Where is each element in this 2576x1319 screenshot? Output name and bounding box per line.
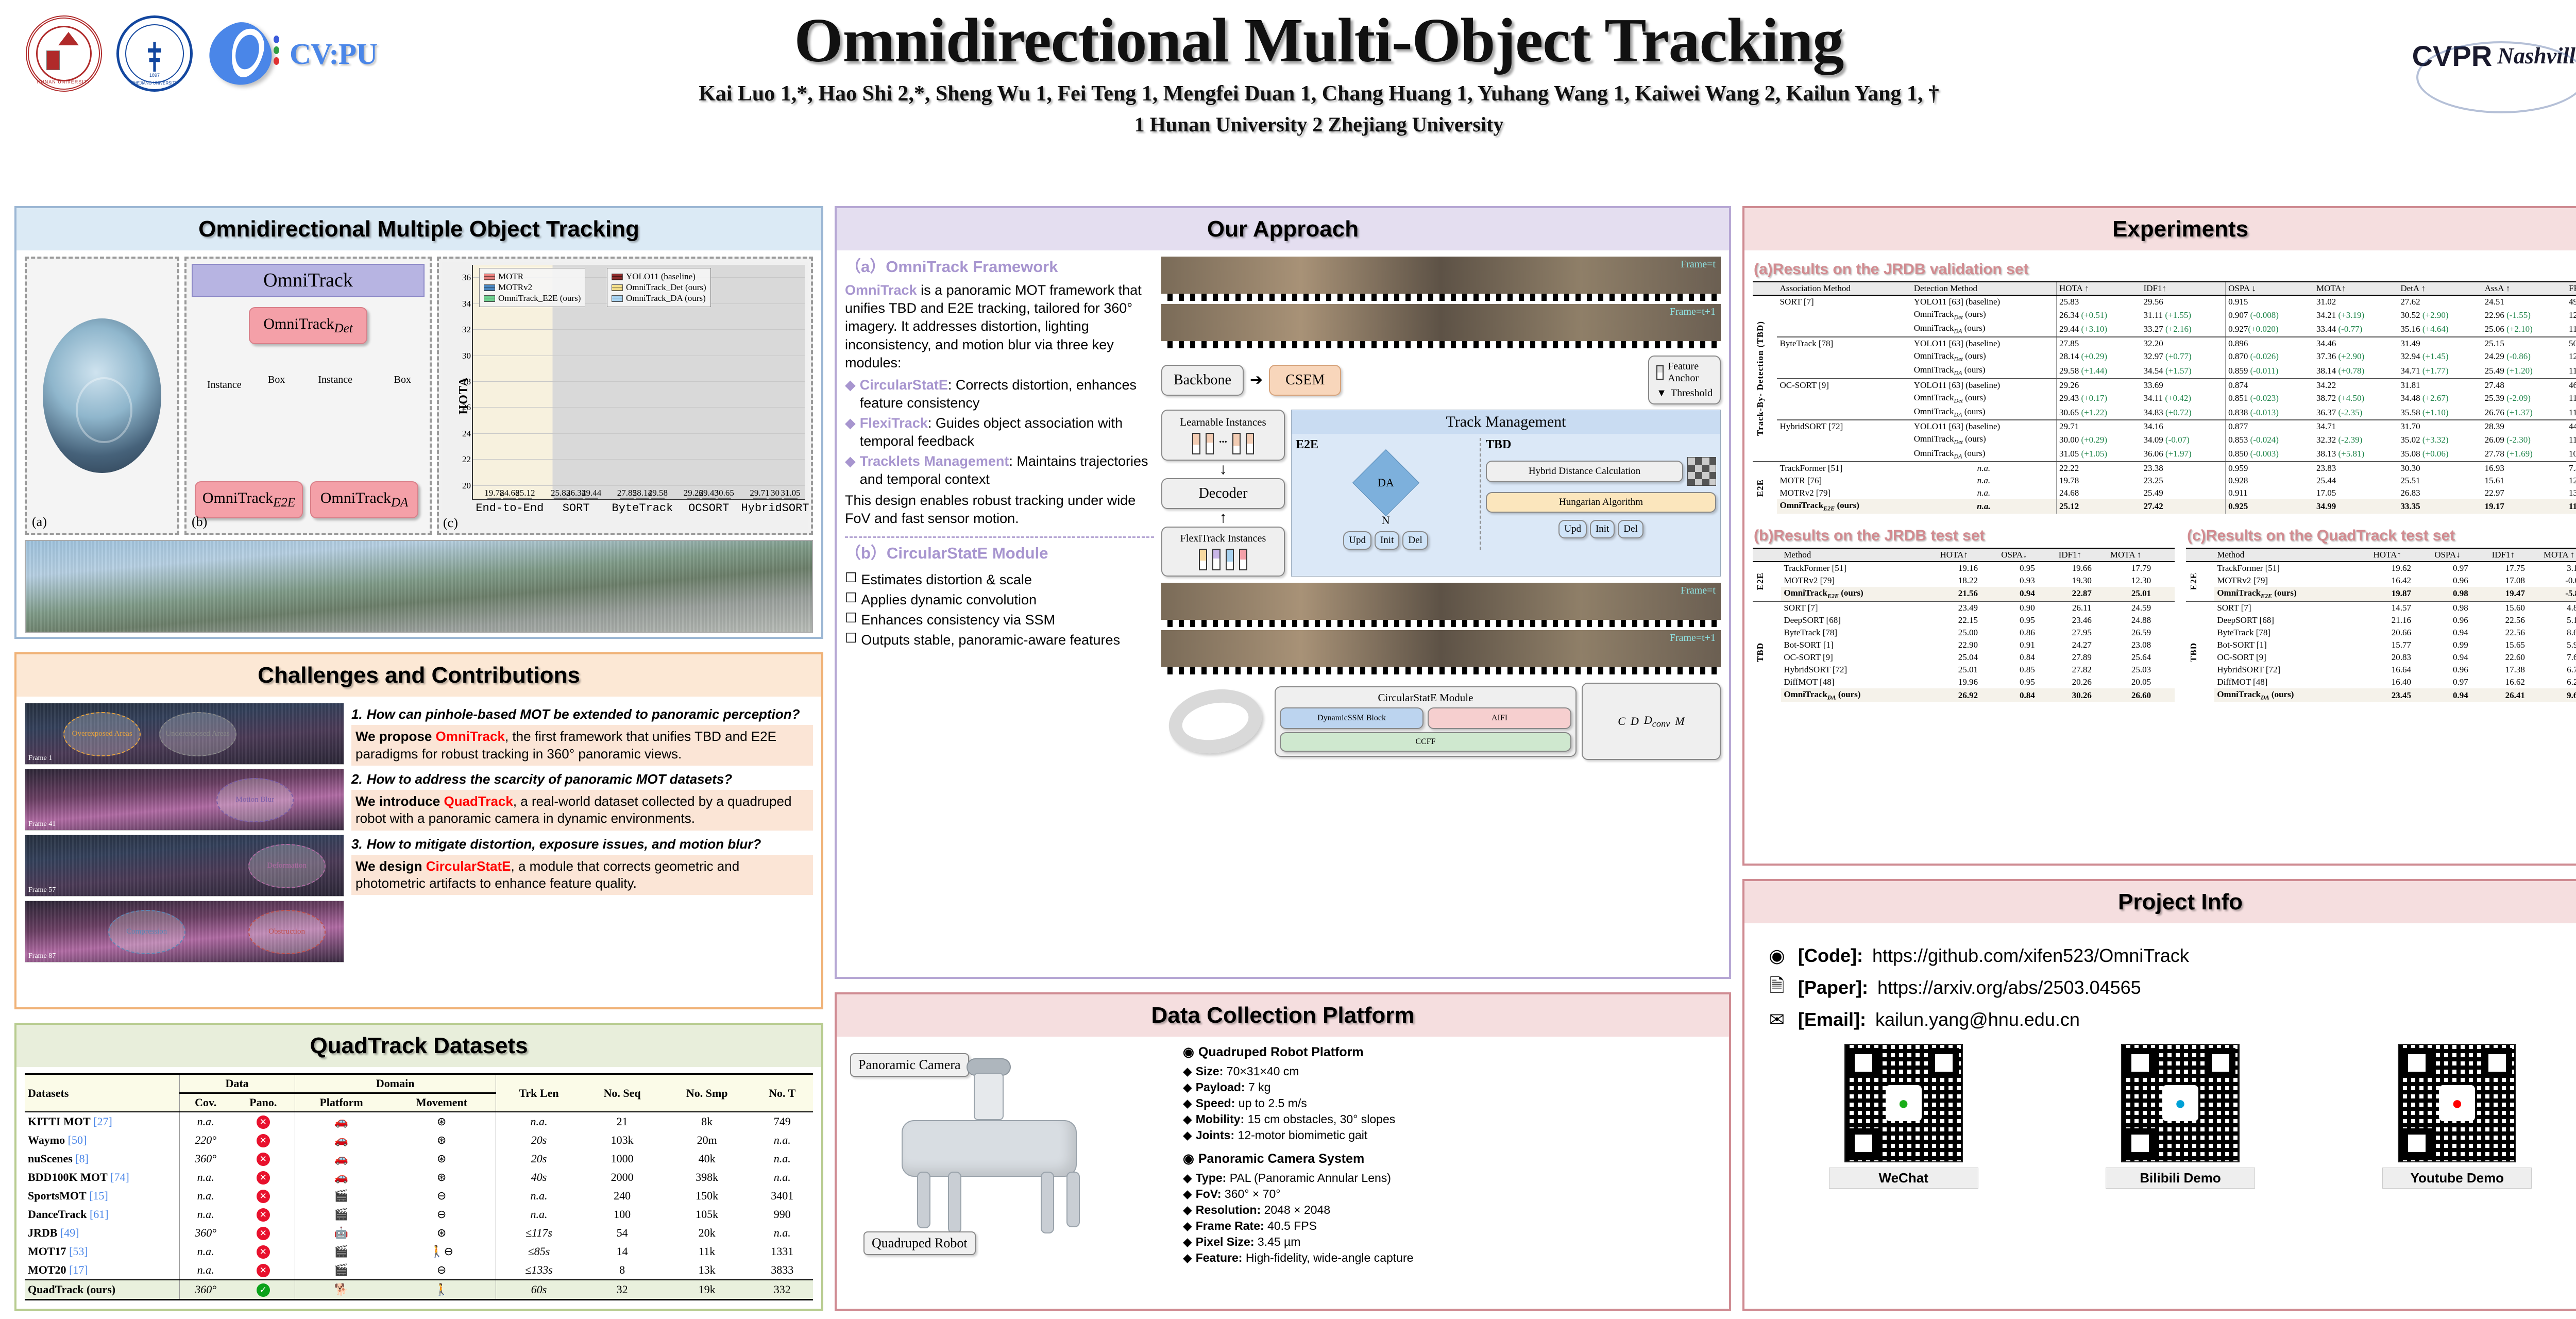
movement-icon: ⊛ <box>387 1224 496 1242</box>
x-axis-tick: OCSORT <box>688 502 729 515</box>
bullet-icon: ◆ <box>1183 1095 1192 1111</box>
spec-item: ◆Mobility: 15 cm obstacles, 30° slopes <box>1183 1111 1721 1127</box>
col-no-t: No. T <box>751 1074 813 1112</box>
bar: 26.34 <box>569 498 583 499</box>
table-row: ByteTrack [78]20.660.9422.568.68 <box>2186 627 2576 639</box>
table-row: Bot-SORT [1]15.770.9915.655.92 <box>2186 639 2576 651</box>
figure-caption: Frame 57 <box>28 886 56 894</box>
column-header: Association Method <box>1777 282 1911 295</box>
x-icon: ✕ <box>257 1245 270 1259</box>
jrdb-test-table: MethodHOTA↑OSPA↓IDF1↑MOTA ↑ E2ETrackForm… <box>1753 548 2175 703</box>
diagram-decoder: Decoder <box>1161 478 1285 509</box>
bullet-icon: ◆ <box>1183 1170 1192 1186</box>
panel-project-info: Project Info ◉ [Code]: https://github.co… <box>1742 879 2576 1311</box>
bar-group: 27.8528.1429.58ByteTrack <box>620 498 665 499</box>
bullet-icon: ◆ <box>1183 1250 1192 1266</box>
challenge-annotation: Compression <box>108 910 185 954</box>
table-row: TBDSORT [7]14.570.9815.604.81 <box>2186 601 2576 614</box>
diagram-output-frame-t1: Frame=t+1 <box>1161 630 1721 674</box>
block-omnitrack-da: OmniTrackDA <box>310 481 418 518</box>
diagram-track-management: Track Management E2E DA N Upd Init <box>1291 410 1721 577</box>
movement-icon: ⊖ <box>387 1261 496 1280</box>
column-header: IDF1↑ <box>2489 548 2541 562</box>
bar: 29.71 <box>753 498 767 499</box>
panel-data-collection: Data Collection Platform Panoramic Camer… <box>835 992 1731 1311</box>
camera-icon: ◉ <box>1183 1151 1194 1168</box>
poster-header: HUNAN UNIVERSITY 1897ZHEJIANG UNIVERSITY… <box>0 0 2576 201</box>
bar: 25.12 <box>518 498 532 499</box>
legend-swatch <box>612 284 623 291</box>
author-list: Kai Luo 1,*, Hao Shi 2,*, Sheng Wu 1, Fe… <box>0 81 2576 106</box>
table-row: SportsMOT [15]n.a.✕🎬⊖n.a.240150k3401 <box>25 1187 813 1205</box>
qr-label: WeChat <box>1829 1168 1978 1189</box>
x-axis-tick: End-to-End <box>476 502 544 515</box>
movement-icon: ⊛ <box>387 1149 496 1168</box>
approach-bullet: ◆FlexiTrack: Guides object association w… <box>845 414 1154 450</box>
challenge-annotation: Underexposed Areas <box>159 712 236 756</box>
table-row: OmniTrackDet (ours)29.43 (+0.17)34.11 (+… <box>1753 392 2576 405</box>
table-row: OmniTrackDA (ours)29.44 (+3.10)33.27 (+2… <box>1753 322 2576 336</box>
diagram-frame-t: Frame=t <box>1161 257 1721 301</box>
table-row: OC-SORT [9]25.040.8427.8925.64 <box>1753 651 2175 664</box>
panel-datasets: QuadTrack Datasets Datasets Data Domain … <box>14 1023 823 1311</box>
page-title: Omnidirectional Multi-Object Tracking <box>0 9 2576 72</box>
table-row: ByteTrack [78]25.000.8627.9526.59 <box>1753 627 2175 639</box>
legend-label: MOTR <box>498 272 523 282</box>
diagram-frame-t1: Frame=t+1 <box>1161 304 1721 348</box>
hunan-university-logo: HUNAN UNIVERSITY <box>26 15 102 92</box>
column-header: MOTA ↑ <box>2541 548 2576 562</box>
bullet-icon: ◆ <box>1183 1234 1192 1250</box>
checkbox-icon: ☐ <box>845 571 857 589</box>
column-header <box>1753 548 1781 562</box>
figure-hota-bar-chart: HOTA 20222426283032343619.7824.6825.12En… <box>437 257 813 535</box>
legend-label: MOTRv2 <box>498 282 532 293</box>
challenge-annotation: Obstruction <box>248 910 326 954</box>
x-axis-tick: HybridSORT <box>741 502 809 515</box>
table-row: DiffMOT [48]19.960.9520.2620.05 <box>1753 676 2175 688</box>
qr-card[interactable]: ●Youtube Demo <box>2382 1044 2532 1189</box>
experiments-section-a-title: (a)Results on the JRDB validation set <box>1754 261 2576 278</box>
x-axis-tick: SORT <box>563 502 590 515</box>
legend-swatch <box>612 274 623 280</box>
x-axis-tick: ByteTrack <box>612 502 673 515</box>
paper-url[interactable]: https://arxiv.org/abs/2503.04565 <box>1877 977 2141 999</box>
checkbox-icon: ☐ <box>845 591 857 609</box>
col-data: Data <box>179 1074 295 1093</box>
challenge-question: 3.How to mitigate distortion, exposure i… <box>351 836 813 853</box>
qr-center-icon: ● <box>2162 1085 2198 1121</box>
qr-label: Youtube Demo <box>2382 1168 2532 1189</box>
diagram-upd-tbd: Upd <box>1558 520 1587 538</box>
legend-label: YOLO11 (baseline) <box>626 272 696 282</box>
table-row: DeepSORT [68]22.150.9523.4624.88 <box>1753 614 2175 627</box>
platform-icon: 🐕 <box>295 1280 387 1300</box>
bar: 29.58 <box>651 498 665 499</box>
platform-icon: 🎬 <box>295 1187 387 1205</box>
column-header: FPS ↑ <box>2566 282 2576 295</box>
approach-section-a-title: （a）OmniTrack Framework <box>845 257 1154 277</box>
bar: 19.78 <box>487 498 501 499</box>
column-header <box>2186 548 2214 562</box>
bar: 30.65 <box>718 498 731 499</box>
table-row: OmniTrackDA (ours)23.450.9426.419.68 <box>2186 688 2576 702</box>
platform-icon: 🚗 <box>295 1131 387 1149</box>
spec-item: ◆Joints: 12-motor biomimetic gait <box>1183 1127 1721 1143</box>
document-icon: 🗎 <box>1765 976 1789 1000</box>
diagram-csem: CSEM <box>1269 365 1341 396</box>
challenge-answer: We introduce QuadTrack, a real-world dat… <box>351 790 813 831</box>
bar: 29.44 <box>585 498 598 499</box>
table-row: OmniTrackE2E (ours)21.560.9422.8725.01 <box>1753 587 2175 601</box>
panel-title-omni-mot: Omnidirectional Multiple Object Tracking <box>16 208 821 250</box>
challenge-answer: We design CircularStatE, a module that c… <box>351 855 813 895</box>
column-header: Detection Method <box>1911 282 2057 295</box>
project-email-line[interactable]: ✉ [Email]: kailun.yang@hnu.edu.cn <box>1765 1008 2576 1031</box>
challenge-answer: We propose OmniTrack, the first framewor… <box>351 725 813 766</box>
figure-caption: Frame 1 <box>28 754 52 763</box>
column-header: HOTA↑ <box>2371 548 2432 562</box>
approach-checkbox-item: ☐Outputs stable, panoramic-aware feature… <box>845 631 1154 649</box>
bar-group: 29.2629.4330.65OCSORT <box>687 498 731 499</box>
figure-caption: Frame 41 <box>28 820 56 828</box>
email-label: [Email]: <box>1798 1009 1866 1030</box>
table-row: Track-By- Detection (TBD)SORT [7]YOLO11 … <box>1753 295 2576 308</box>
table-row: DiffMOT [48]16.400.9716.626.21 <box>2186 676 2576 688</box>
col-cov: Cov. <box>179 1093 232 1112</box>
qr-code[interactable]: ● <box>2121 1044 2240 1162</box>
column-header: OSPA↓ <box>1998 548 2056 562</box>
bullet-icon: ◆ <box>1183 1186 1192 1202</box>
table-row: MOTR [76]n.a.19.7823.250.92825.4425.5115… <box>1753 475 2576 487</box>
email-value[interactable]: kailun.yang@hnu.edu.cn <box>1875 1009 2080 1030</box>
spec-item: ◆FoV: 360° × 70° <box>1183 1186 1721 1202</box>
table-row: HybridSORT [72]25.010.8527.8225.03 <box>1753 664 2175 676</box>
chart-legend-left: MOTRMOTRv2OmniTrack_E2E (ours) <box>479 268 585 307</box>
platform-icon: 🤖 <box>295 1224 387 1242</box>
figure-omnitrack-blocks: OmniTrack OmniTrackDet Instance Box Inst… <box>184 257 432 535</box>
col-platform: Platform <box>295 1093 387 1112</box>
panel-title-experiments: Experiments <box>1744 208 2576 250</box>
bar: 27.85 <box>620 498 634 499</box>
diamond-bullet-icon: ◆ <box>845 452 856 488</box>
panel-title-approach: Our Approach <box>837 208 1729 250</box>
qr-center-icon: ● <box>2439 1085 2475 1121</box>
table-row: E2ETrackFormer [51]19.160.9519.6617.79 <box>1753 562 2175 574</box>
bar-group: 19.7824.6825.12End-to-End <box>487 498 532 499</box>
table-row: OmniTrackDet (ours)30.00 (+0.29)34.09 (-… <box>1753 433 2576 447</box>
panel-omnidirectional-mot: Omnidirectional Multiple Object Tracking… <box>14 206 823 639</box>
qr-code[interactable]: ● <box>1844 1044 1963 1162</box>
block-omnitrack-det: OmniTrackDet <box>249 307 367 344</box>
table-row: Bot-SORT [1]22.900.9124.2723.08 <box>1753 639 2175 651</box>
legend-label: OmniTrack_Det (ours) <box>626 282 706 293</box>
row-group-label-e2e: E2E <box>1755 479 1766 497</box>
table-row: QuadTrack (ours) 360°✓🐕🚶60s3219k332 <box>25 1280 813 1300</box>
legend-swatch <box>484 274 495 280</box>
chart-legend-right: YOLO11 (baseline)OmniTrack_Det (ours)Omn… <box>607 268 711 307</box>
table-row: TBDSORT [7]23.490.9026.1124.59 <box>1753 601 2175 614</box>
label-panoramic-camera: Panoramic Camera <box>850 1053 969 1077</box>
platform-icon: 🎬 <box>295 1261 387 1280</box>
row-group-label: E2E <box>2189 572 2199 590</box>
bullet-icon: ◆ <box>1183 1111 1192 1127</box>
project-code-line[interactable]: ◉ [Code]: https://github.com/xifen523/Om… <box>1765 944 2576 968</box>
table-row: MOTRv2 [79]18.220.9319.3012.30 <box>1753 574 2175 587</box>
legend-swatch <box>484 295 495 302</box>
approach-text: （a）OmniTrack Framework OmniTrack is a pa… <box>845 257 1154 760</box>
diagram-output-frame-t: Frame=t <box>1161 583 1721 627</box>
approach-bullet: ◆CircularStatE: Corrects distortion, enh… <box>845 376 1154 412</box>
table-row: MOT17 [53]n.a.✕🎬🚶⊖≤85s1411k1331 <box>25 1242 813 1261</box>
col-pano: Pano. <box>232 1093 295 1112</box>
diamond-bullet-icon: ◆ <box>845 414 856 450</box>
challenge-question: 1.How can pinhole-based MOT be extended … <box>351 706 813 723</box>
bar-group: 29.713031.05HybridSORT <box>753 498 798 499</box>
github-icon: ◉ <box>1765 944 1789 968</box>
approach-section-b-title: （b）CircularStatE Module <box>845 543 1154 564</box>
movement-icon: ⊖ <box>387 1205 496 1224</box>
table-row: DeepSORT [68]21.160.9622.565.12 <box>2186 614 2576 627</box>
table-row: ByteTrack [78]YOLO11 [63] (baseline)27.8… <box>1753 337 2576 350</box>
bar: 28.14 <box>636 498 649 499</box>
panel-title-datasets: QuadTrack Datasets <box>16 1025 821 1067</box>
column-header: AssA ↑ <box>2482 282 2566 295</box>
spec-item: ◆Type: PAL (Panoramic Annular Lens) <box>1183 1170 1721 1186</box>
table-row: OmniTrackDA (ours)30.65 (+1.22)34.83 (+0… <box>1753 405 2576 420</box>
edge-label-box-left: Box <box>268 374 285 386</box>
label-quadruped-robot: Quadruped Robot <box>863 1231 976 1255</box>
paper-label: [Paper]: <box>1798 977 1868 999</box>
column-header: HOTA↑ <box>1938 548 1999 562</box>
figure-fisheye-view: (a) <box>25 257 179 535</box>
table-row: OmniTrackDA (ours)29.58 (+1.44)34.54 (+1… <box>1753 364 2576 378</box>
approach-checkbox-item: ☐Applies dynamic convolution <box>845 591 1154 609</box>
bar: 29.26 <box>687 498 700 499</box>
row-group-label: TBD <box>2189 642 2199 662</box>
platform-specifications: ◉Quadruped Robot Platform ◆Size: 70×31×4… <box>1183 1043 1721 1266</box>
column-header: HOTA ↑ <box>2056 282 2141 295</box>
x-icon: ✕ <box>257 1171 270 1185</box>
envelope-icon: ✉ <box>1765 1008 1789 1031</box>
column-header: OSPA ↓ <box>2226 282 2314 295</box>
approach-checkbox-item: ☐Enhances consistency via SSM <box>845 611 1154 629</box>
datasets-table: Datasets Data Domain Trk Len No. Seq No.… <box>25 1073 813 1300</box>
table-row: OmniTrackDet (ours)26.34 (+0.51)31.11 (+… <box>1753 308 2576 322</box>
zhejiang-university-logo: 1897ZHEJIANG UNIVERSITY <box>116 15 193 92</box>
table-row: MOT20 [17]n.a.✕🎬⊖≤133s813k3833 <box>25 1261 813 1280</box>
spec-item: ◆Speed: up to 2.5 m/s <box>1183 1095 1721 1111</box>
table-row: OC-SORT [9]20.830.9422.607.65 <box>2186 651 2576 664</box>
col-trk-len: Trk Len <box>496 1074 582 1112</box>
x-icon: ✕ <box>257 1264 270 1277</box>
x-icon: ✕ <box>257 1134 270 1147</box>
code-label: [Code]: <box>1798 945 1863 967</box>
figure-caption: Frame 87 <box>28 952 56 960</box>
bullet-icon: ◆ <box>1183 1063 1192 1079</box>
challenge-annotation: Deformation <box>248 844 326 888</box>
row-group-label: TBD <box>1755 642 1766 662</box>
spec-item: ◆Feature: High-fidelity, wide-angle capt… <box>1183 1250 1721 1266</box>
bar-group: 25.8326.3429.44SORT <box>554 498 598 499</box>
figure-panorama-strip <box>25 540 813 633</box>
bar: 29.43 <box>702 498 716 499</box>
table-row: OmniTrackE2E (ours)19.870.9819.47-5.89 <box>2186 587 2576 601</box>
movement-icon: 🚶 <box>387 1280 496 1300</box>
quadtrack-test-table: MethodHOTA↑OSPA↓IDF1↑MOTA ↑ E2ETrackForm… <box>2186 548 2576 703</box>
table-row: Waymo [50]220°✕🚗⊛20s103k20mn.a. <box>25 1131 813 1149</box>
platform-icon: 🚗 <box>295 1149 387 1168</box>
panel-challenges: Challenges and Contributions Overexposed… <box>14 652 823 1009</box>
edge-label-box-right: Box <box>394 374 411 386</box>
diagram-del-tbd: Del <box>1618 520 1643 538</box>
table-row: MOTRv2 [79]n.a.24.6825.490.91117.0526.83… <box>1753 487 2576 499</box>
checkbox-icon: ☐ <box>845 631 857 649</box>
panel-approach: Our Approach （a）OmniTrack Framework Omni… <box>835 206 1731 979</box>
table-row: JRDB [49]360°✕🤖⊛≤117s5420kn.a. <box>25 1224 813 1242</box>
affiliation-list: 1 Hunan University 2 Zhejiang University <box>0 112 2576 137</box>
diagram-backbone: Backbone <box>1161 365 1244 396</box>
column-header: MOTA↑ <box>2314 282 2398 295</box>
edge-label-instance-right: Instance <box>318 374 352 386</box>
diagram-learnable-instances: Learnable Instances ... <box>1161 410 1285 461</box>
bullet-icon: ◆ <box>1183 1079 1192 1095</box>
col-no-smp: No. Smp <box>663 1074 752 1112</box>
col-datasets: Datasets <box>25 1074 179 1112</box>
challenge-text-column: 1.How can pinhole-based MOT be extended … <box>351 703 813 962</box>
legend-swatch <box>484 284 495 291</box>
qr-card[interactable]: ●WeChat <box>1829 1044 1978 1189</box>
movement-icon: ⊛ <box>387 1168 496 1187</box>
figure-label-b: (b) <box>192 514 207 530</box>
bullet-icon: ◆ <box>1183 1218 1192 1234</box>
figure-label-c: (c) <box>443 515 458 531</box>
platform-icon: 🚗 <box>295 1168 387 1187</box>
diamond-bullet-icon: ◆ <box>845 376 856 412</box>
table-row: E2ETrackFormer [51]19.620.9717.753.16 <box>2186 562 2576 574</box>
row-group-label: E2E <box>1755 572 1766 590</box>
table-row: DanceTrack [61]n.a.✕🎬⊖n.a.100105k990 <box>25 1205 813 1224</box>
qr-card[interactable]: ●Bilibili Demo <box>2106 1044 2255 1189</box>
column-header: Method <box>1781 548 1937 562</box>
cvpu-logo: CV:PU <box>207 20 377 87</box>
cvpr-badge: CVPR Nashville JUNE 11-15, 2025 <box>2421 25 2576 87</box>
movement-icon: ⊛ <box>387 1131 496 1149</box>
figure-label-a: (a) <box>32 514 47 530</box>
checkbox-icon: ☐ <box>845 611 857 629</box>
robot-icon: ◉ <box>1183 1044 1194 1061</box>
approach-checkbox-item: ☐Estimates distortion & scale <box>845 571 1154 589</box>
x-icon: ✕ <box>257 1208 270 1222</box>
bar: 24.68 <box>503 498 516 499</box>
figure-quadruped-robot: Panoramic Camera Quadruped Robot <box>845 1043 1175 1259</box>
experiments-section-c-title: (c)Results on the QuadTrack test set <box>2187 527 2576 545</box>
col-domain: Domain <box>295 1074 496 1093</box>
approach-bullet: ◆Tracklets Management: Maintains traject… <box>845 452 1154 488</box>
qr-code[interactable]: ● <box>2398 1044 2516 1162</box>
challenge-annotation: Motion Blur <box>216 778 294 822</box>
table-row: OmniTrackE2E (ours)n.a.25.1227.420.92534… <box>1753 499 2576 513</box>
challenge-image-column: Overexposed AreasUnderexposed AreasFrame… <box>25 703 344 962</box>
table-row: MOTRv2 [79]16.420.9617.08-0.06 <box>2186 574 2576 587</box>
spec-item: ◆Pixel Size: 3.45 µm <box>1183 1234 1721 1250</box>
bar: 30 <box>769 498 782 499</box>
bullet-icon: ◆ <box>1183 1127 1192 1143</box>
diagram-flexitrack-instances: FlexiTrack Instances <box>1161 527 1285 577</box>
table-row: HybridSORT [72]16.640.9617.386.79 <box>2186 664 2576 676</box>
col-no-seq: No. Seq <box>582 1074 663 1112</box>
challenge-question: 2.How to address the scarcity of panoram… <box>351 771 813 788</box>
diagram-hungarian: Hungarian Algorithm <box>1486 492 1716 513</box>
block-omnitrack: OmniTrack <box>192 264 425 297</box>
legend-label: OmniTrack_DA (ours) <box>626 293 706 303</box>
movement-icon: 🚶⊖ <box>387 1242 496 1261</box>
bullet-icon: ◆ <box>1183 1202 1192 1218</box>
project-paper-line[interactable]: 🗎 [Paper]: https://arxiv.org/abs/2503.04… <box>1765 976 2576 1000</box>
diagram-tbd-label: TBD <box>1486 438 1716 452</box>
diagram-legend: FeatureAnchor ▼Threshold <box>1648 356 1721 404</box>
column-header: DetA ↑ <box>2398 282 2482 295</box>
challenge-image: Overexposed AreasUnderexposed AreasFrame… <box>25 703 344 765</box>
diagram-init-e2e: Init <box>1375 531 1399 550</box>
code-url[interactable]: https://github.com/xifen523/OmniTrack <box>1872 945 2189 967</box>
table-row: OmniTrackDA (ours)26.920.8430.2626.60 <box>1753 688 2175 702</box>
movement-icon: ⊛ <box>387 1112 496 1131</box>
legend-label: OmniTrack_E2E (ours) <box>498 293 581 303</box>
bar: 25.83 <box>554 498 567 499</box>
logo-group: HUNAN UNIVERSITY 1897ZHEJIANG UNIVERSITY… <box>26 15 377 92</box>
challenge-image: Motion BlurFrame 41 <box>25 769 344 831</box>
approach-closing: This design enables robust tracking unde… <box>845 492 1154 528</box>
diagram-upd-e2e: Upd <box>1343 531 1371 550</box>
diagram-da-decision: DA <box>1352 449 1419 516</box>
challenge-annotation: Overexposed Areas <box>63 712 141 756</box>
x-icon: ✕ <box>257 1115 270 1129</box>
column-header: IDF1↑ <box>2141 282 2226 295</box>
diagram-init-tbd: Init <box>1590 520 1615 538</box>
x-icon: ✕ <box>257 1153 270 1166</box>
platform-icon: 🎬 <box>295 1205 387 1224</box>
spec-item: ◆Frame Rate: 40.5 FPS <box>1183 1218 1721 1234</box>
panel-title-challenges: Challenges and Contributions <box>16 654 821 697</box>
x-icon: ✕ <box>257 1190 270 1203</box>
experiments-section-b-title: (b)Results on the JRDB test set <box>1754 527 2175 545</box>
movement-icon: ⊖ <box>387 1187 496 1205</box>
column-header: OSPA↓ <box>2432 548 2489 562</box>
table-row: OC-SORT [9]YOLO11 [63] (baseline)29.2633… <box>1753 379 2576 392</box>
column-header: MOTA ↑ <box>2108 548 2175 562</box>
qr-label: Bilibili Demo <box>2106 1168 2255 1189</box>
panel-experiments: Experiments (a)Results on the JRDB valid… <box>1742 206 2576 866</box>
diagram-csem-outputs: C D Dconv M <box>1582 683 1721 760</box>
challenge-image: DeformationFrame 57 <box>25 835 344 897</box>
table-row: BDD100K MOT [74]n.a.✕🚗⊛40s2000398kn.a. <box>25 1168 813 1187</box>
table-row: KITTI MOT [27]n.a.✕🚗⊛n.a.218k749 <box>25 1112 813 1131</box>
check-icon: ✓ <box>257 1283 270 1297</box>
spec-item: ◆Size: 70×31×40 cm <box>1183 1063 1721 1079</box>
block-omnitrack-e2e: OmniTrackE2E <box>195 481 303 518</box>
column-header: Method <box>2214 548 2370 562</box>
diagram-del-e2e: Del <box>1402 531 1428 550</box>
platform-icon: 🚗 <box>295 1112 387 1131</box>
row-group-label-tbd: Track-By- Detection (TBD) <box>1755 321 1766 436</box>
approach-lead-term: OmniTrack <box>845 282 917 298</box>
panel-title-project-info: Project Info <box>1744 881 2576 923</box>
jrdb-validation-table: Association MethodDetection MethodHOTA ↑… <box>1753 281 2576 514</box>
panel-title-data-collection: Data Collection Platform <box>837 994 1729 1037</box>
column-header: IDF1↑ <box>2056 548 2108 562</box>
table-row: OmniTrackDet (ours)28.14 (+0.29)32.97 (+… <box>1753 350 2576 364</box>
